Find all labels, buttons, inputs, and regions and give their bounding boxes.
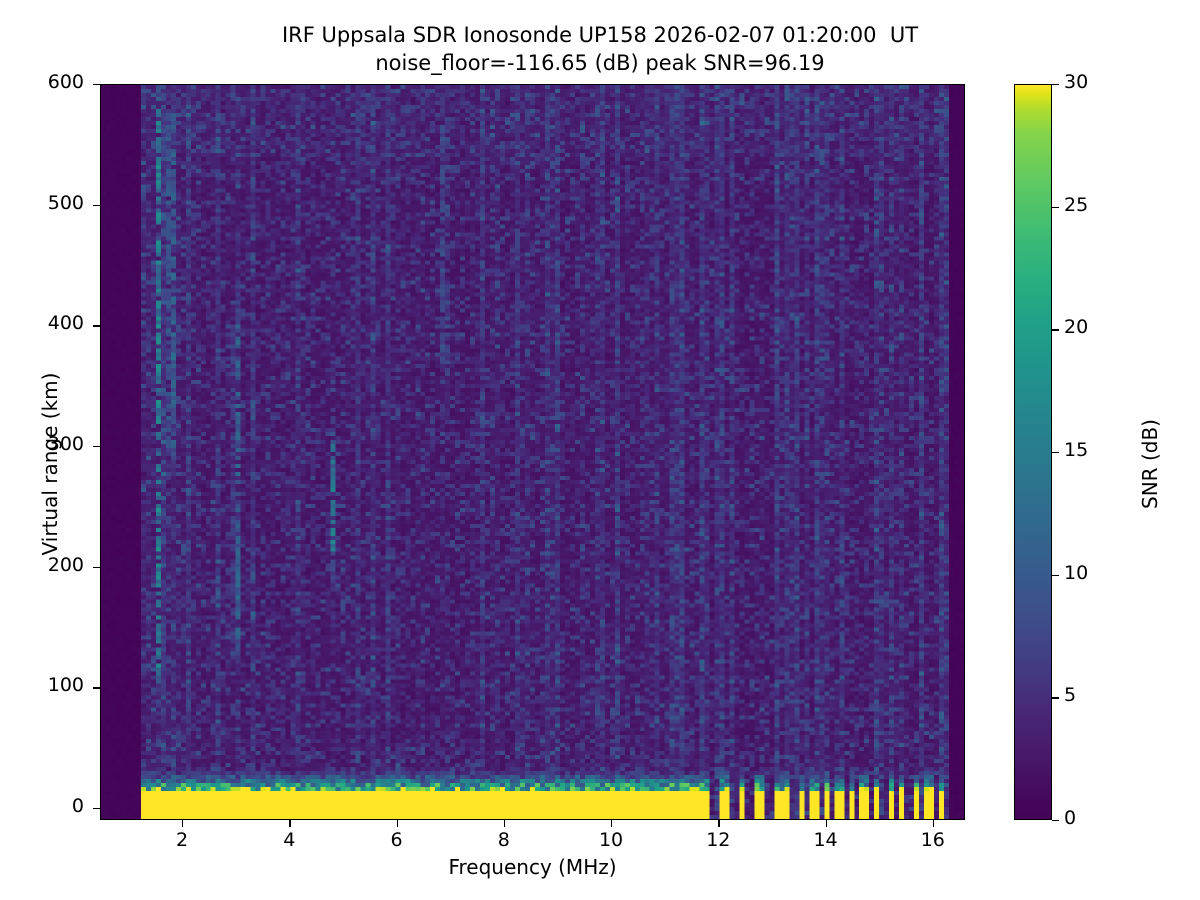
y-tick-label: 100 [0,674,84,696]
colorbar-tick-label: 15 [1064,439,1088,461]
x-tick-mark [826,820,827,827]
y-tick-mark [93,325,100,326]
colorbar-tick-mark [1052,207,1059,208]
colorbar-tick-mark [1052,575,1059,576]
x-tick-mark [611,820,612,827]
x-tick-mark [289,820,290,827]
y-tick-label: 600 [0,71,84,93]
y-tick-mark [93,808,100,809]
colorbar-tick-label: 10 [1064,562,1088,584]
colorbar-title: SNR (dB) [1138,314,1162,614]
y-axis-title: Virtual range (km) [38,314,62,614]
colorbar-tick-mark [1052,329,1059,330]
colorbar-tick-mark [1052,820,1059,821]
x-tick-label: 8 [464,829,544,851]
x-tick-label: 6 [357,829,437,851]
x-tick-label: 14 [786,829,866,851]
y-tick-label: 500 [0,192,84,214]
x-tick-label: 12 [678,829,758,851]
x-tick-mark [933,820,934,827]
colorbar-tick-mark [1052,697,1059,698]
x-tick-mark [504,820,505,827]
colorbar-tick-mark [1052,84,1059,85]
snr-colorbar [1014,84,1052,820]
y-tick-mark [93,446,100,447]
y-tick-mark [93,567,100,568]
x-tick-mark [718,820,719,827]
x-tick-label: 2 [142,829,222,851]
ionogram-canvas [101,85,964,819]
y-tick-label: 0 [0,795,84,817]
ionogram-plot-area [100,84,965,820]
colorbar-tick-label: 5 [1064,684,1076,706]
ionogram-figure: IRF Uppsala SDR Ionosonde UP158 2026-02-… [0,0,1200,900]
colorbar-tick-label: 30 [1064,71,1088,93]
colorbar-tick-label: 0 [1064,807,1076,829]
y-tick-mark [93,205,100,206]
x-tick-label: 16 [893,829,973,851]
y-tick-mark [93,84,100,85]
x-tick-mark [182,820,183,827]
figure-title-line-2: noise_floor=-116.65 (dB) peak SNR=96.19 [0,50,1200,76]
x-tick-mark [397,820,398,827]
x-tick-label: 10 [571,829,651,851]
colorbar-tick-mark [1052,452,1059,453]
colorbar-tick-label: 20 [1064,316,1088,338]
x-axis-title: Frequency (MHz) [100,855,965,879]
x-tick-label: 4 [249,829,329,851]
colorbar-tick-label: 25 [1064,194,1088,216]
ionogram-heatmap [101,85,964,819]
y-tick-mark [93,687,100,688]
figure-title-line-1: IRF Uppsala SDR Ionosonde UP158 2026-02-… [0,22,1200,48]
